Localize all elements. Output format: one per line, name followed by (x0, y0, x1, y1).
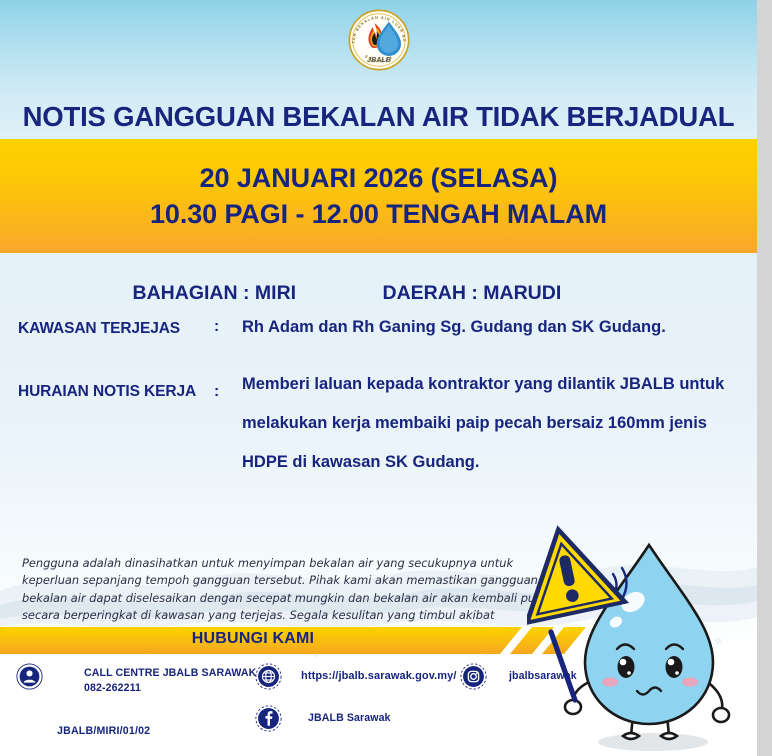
contact-item-website[interactable]: https://jbalb.sarawak.gov.my/ (255, 663, 457, 690)
outage-time: 10.30 PAGI - 12.00 TENGAH MALAM (150, 199, 607, 229)
contact-item-facebook[interactable]: JBALB Sarawak (255, 705, 391, 732)
kawasan-terjejas-row: KAWASAN TERJEJAS : Rh Adam dan Rh Ganing… (18, 318, 737, 338)
outage-date: 20 JANUARI 2026 (SELASA) (200, 163, 558, 193)
call-centre-line2: 082-262211 (84, 681, 256, 696)
contact-bar-label: HUBUNGI KAMI (0, 630, 506, 648)
daerah-label: DAERAH : MARUDI (383, 282, 633, 305)
poster-header: JABATAN BEKALAN AIR LUAR BANDAR SARAWAK … (0, 0, 757, 139)
notice-poster: JABATAN BEKALAN AIR LUAR BANDAR SARAWAK … (0, 0, 757, 756)
kawasan-colon: : (214, 318, 242, 336)
contact-item-call-centre[interactable]: CALL CENTRE JBALB SARAWAK 082-262211 (16, 663, 256, 696)
jbalb-logo-icon: JABATAN BEKALAN AIR LUAR BANDAR SARAWAK … (341, 2, 417, 78)
instagram-icon (460, 663, 487, 690)
poster-body: BAHAGIAN : MIRI DAERAH : MARUDI KAWASAN … (0, 253, 757, 756)
call-centre-text: CALL CENTRE JBALB SARAWAK 082-262211 (43, 663, 256, 696)
huraian-colon: : (214, 365, 242, 401)
kawasan-terjejas-label: KAWASAN TERJEJAS (18, 318, 214, 338)
reference-code: JBALB/MIRI/01/02 (57, 725, 150, 737)
page-gutter (757, 0, 772, 756)
contact-list: CALL CENTRE JBALB SARAWAK 082-262211 (0, 663, 600, 756)
call-centre-line1: CALL CENTRE JBALB SARAWAK (84, 666, 256, 681)
huraian-notis-kerja-row: HURAIAN NOTIS KERJA : Memberi laluan kep… (18, 365, 737, 481)
facebook-handle: JBALB Sarawak (282, 705, 391, 726)
page-title: NOTIS GANGGUAN BEKALAN AIR TIDAK BERJADU… (0, 101, 757, 133)
contact-bar: HUBUNGI KAMI (0, 627, 600, 654)
bahagian-label: BAHAGIAN : MIRI (125, 282, 383, 305)
region-row: BAHAGIAN : MIRI DAERAH : MARUDI (0, 282, 757, 305)
globe-icon (255, 663, 282, 690)
person-icon (16, 663, 43, 690)
huraian-notis-kerja-label: HURAIAN NOTIS KERJA (18, 365, 214, 401)
website-url: https://jbalb.sarawak.gov.my/ (282, 663, 457, 685)
facebook-icon (255, 705, 282, 732)
huraian-notis-kerja-value: Memberi laluan kepada kontraktor yang di… (242, 365, 737, 481)
svg-text:JBALB: JBALB (367, 56, 391, 64)
instagram-handle: jbalbsarawak (487, 663, 577, 684)
contact-item-instagram[interactable]: jbalbsarawak (460, 663, 577, 690)
kawasan-terjejas-value: Rh Adam dan Rh Ganing Sg. Gudang dan SK … (242, 318, 737, 337)
date-banner: 20 JANUARI 2026 (SELASA) 10.30 PAGI - 12… (0, 139, 757, 253)
